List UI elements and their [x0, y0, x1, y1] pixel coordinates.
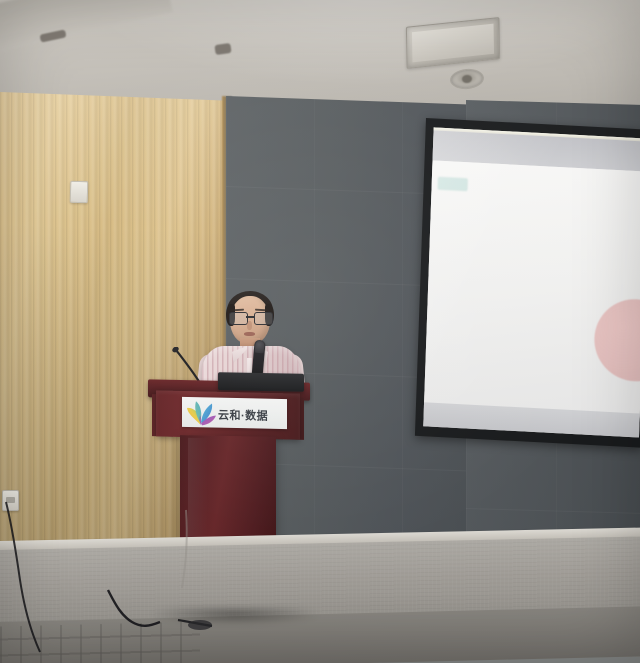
podium-monitor: [218, 372, 304, 392]
podium-brand-text: 云和·数据: [218, 406, 268, 424]
slide-content: [424, 160, 640, 417]
mouth: [244, 332, 255, 336]
slide-accent-circle: [593, 297, 640, 383]
carpet-pattern: [0, 622, 200, 663]
lens-right: [254, 312, 273, 325]
slide-badge: [438, 177, 468, 192]
light-switch-icon[interactable]: [70, 181, 89, 203]
lens-left: [229, 312, 248, 325]
glasses-bridge: [246, 316, 254, 318]
power-outlet-icon[interactable]: [2, 490, 19, 511]
nose: [247, 321, 252, 330]
podium-brand-plate: 云和·数据: [182, 397, 287, 429]
butterfly-logo-icon: [185, 398, 217, 427]
podium-shadow: [150, 607, 320, 625]
projection-screen: [414, 118, 640, 460]
photo-scene: 云和·数据: [0, 0, 640, 663]
screen-frame: [415, 118, 640, 448]
